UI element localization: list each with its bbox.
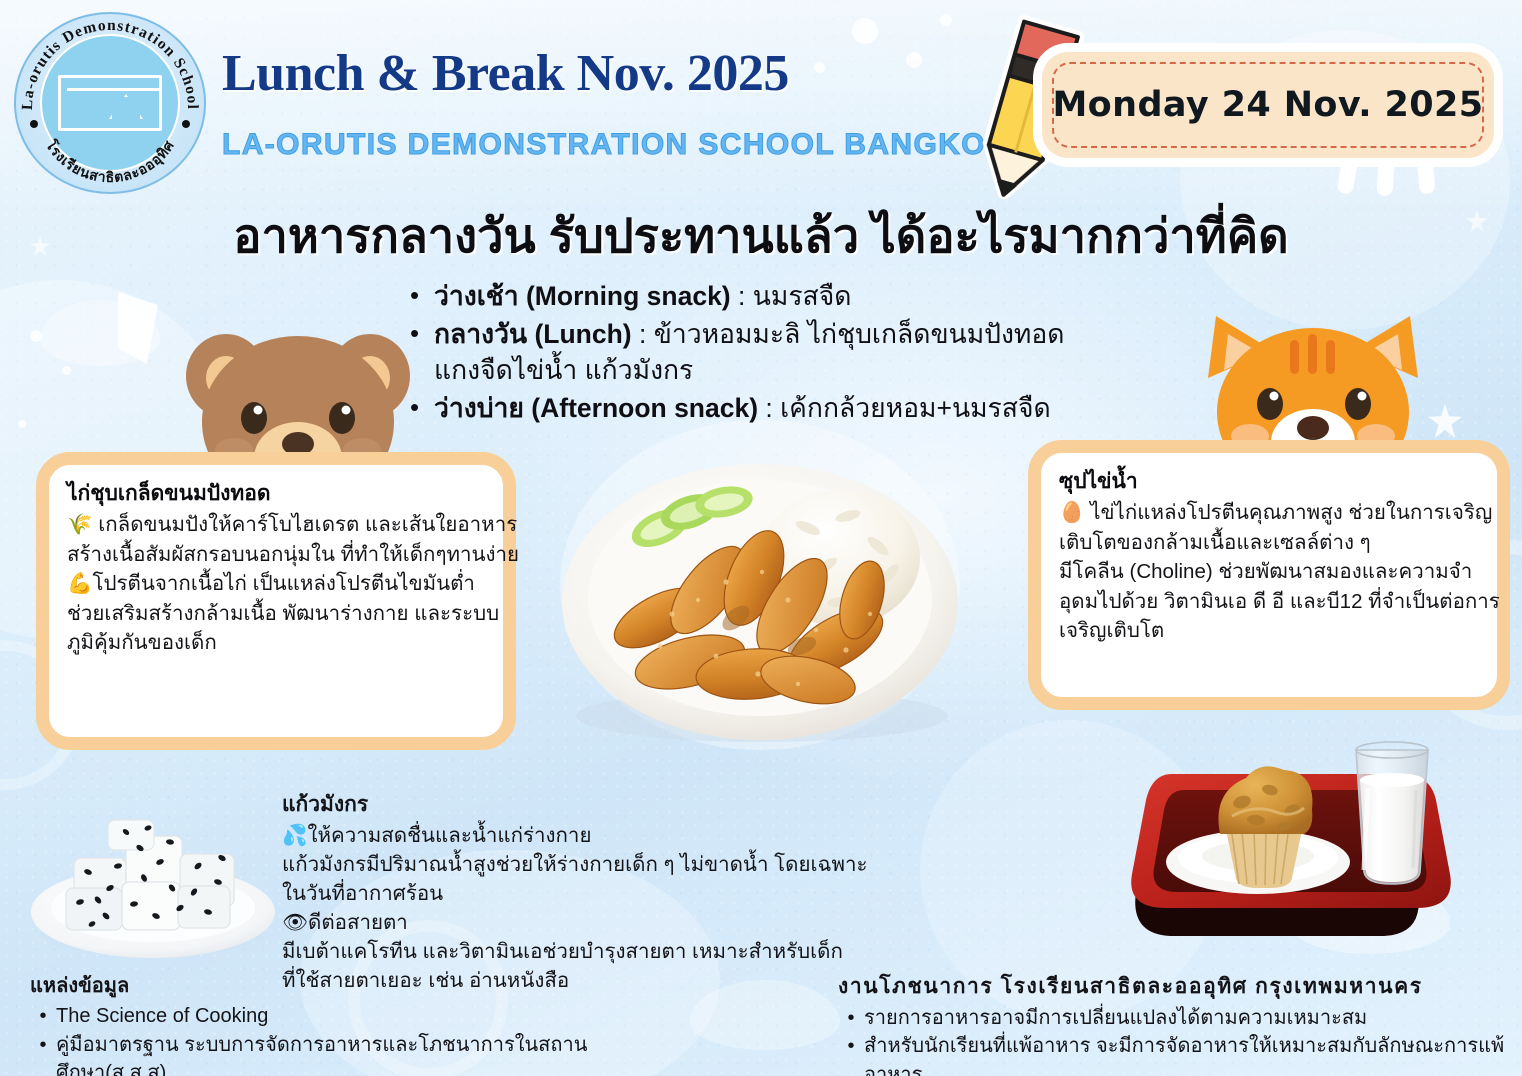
bullet-icon: •: [30, 1031, 56, 1059]
bg-dot-5: [30, 330, 42, 342]
bullet-icon: •: [838, 1032, 864, 1060]
footer-note-text-1: รายการอาหารอาจมีการเปลี่ยนแปลงได้ตามความ…: [864, 1004, 1518, 1032]
info-card-fried-chicken: ไก่ชุบเกล็ดขนมปังทอด 🌾 เกล็ดขนมปังให้คาร…: [36, 452, 516, 750]
dragonfruit-title: แก้วมังกร: [282, 790, 882, 820]
poster-canvas: La-orutis Demonstration School โรงเรียนส…: [0, 0, 1522, 1076]
card-right-line-5: เจริญเติบโต: [1059, 616, 1479, 646]
headline: อาหารกลางวัน รับประทานแล้ว ได้อะไรมากกว่…: [0, 198, 1522, 273]
menu-label-lunch: กลางวัน (Lunch): [434, 319, 632, 349]
menu-value-morning: นมรสจืด: [753, 281, 852, 311]
dragonfruit-line-5: มีเบต้าแคโรทีน และวิตามินเอช่วยบำรุงสายต…: [282, 937, 882, 966]
menu-value-lunch-line2: แกงจืดไข่น้ำ แก้วมังกร: [434, 352, 1130, 388]
footer-note-text-2: สำหรับนักเรียนที่แพ้อาหาร จะมีการจัดอาหา…: [864, 1032, 1518, 1076]
bg-dot-7: [18, 420, 26, 428]
photo-fried-chicken-rice: [540, 450, 980, 750]
footer-notes-heading: งานโภชนาการ โรงเรียนสาธิตละอออุทิศ กรุงเ…: [838, 972, 1518, 1002]
bg-dot-1: [852, 18, 878, 44]
card-left-line-2: สร้างเนื้อสัมผัสกรอบนอกนุ่มใน ที่ทำให้เด…: [67, 540, 485, 570]
card-right-title: ซุปไข่น้ำ: [1059, 467, 1479, 497]
info-card-egg-soup: ซุปไข่น้ำ 🥚 ไข่ไก่แหล่งโปรตีนคุณภาพสูง ช…: [1028, 440, 1510, 710]
footer-source-text-2: คู่มือมาตรฐาน ระบบการจัดการอาหารและโภชนา…: [56, 1031, 690, 1076]
bg-dot-3: [940, 14, 952, 26]
footer-sources-heading: แหล่งข้อมูล: [30, 972, 690, 1000]
photo-snack-tray: [1080, 722, 1500, 952]
menu-sep-lunch: :: [632, 319, 654, 349]
bg-dot-6: [62, 366, 71, 375]
footer-note-item: • สำหรับนักเรียนที่แพ้อาหาร จะมีการจัดอา…: [838, 1032, 1518, 1076]
menu-item-lunch: • กลางวัน (Lunch) : ข้าวหอมมะลิ ไก่ชุบเก…: [410, 316, 1130, 388]
school-logo: La-orutis Demonstration School โรงเรียนส…: [14, 12, 206, 194]
footer-source-item: • คู่มือมาตรฐาน ระบบการจัดการอาหารและโภช…: [30, 1031, 690, 1076]
menu-sep-afternoon: :: [758, 393, 780, 423]
bullet-icon: •: [410, 278, 434, 313]
menu-item-afternoon-snack: • ว่างบ่าย (Afternoon snack) : เค้กกล้วย…: [410, 390, 1130, 426]
card-right-line-2: เติบโตของกล้ามเนื้อและเซลล์ต่าง ๆ: [1059, 528, 1479, 558]
menu-value-lunch: ข้าวหอมมะลิ ไก่ชุบเกล็ดขนมปังทอด: [654, 319, 1065, 349]
menu-list: • ว่างเช้า (Morning snack) : นมรสจืด • ก…: [410, 278, 1130, 428]
menu-value-afternoon: เค้กกล้วยหอม+นมรสจืด: [780, 393, 1051, 423]
dragonfruit-line-1: 💦ให้ความสดชื่นและน้ำแก่ร่างกาย: [282, 821, 882, 850]
card-left-line-5: ภูมิคุ้มกันของเด็ก: [67, 628, 485, 658]
page-subtitle: LA-ORUTIS DEMONSTRATION SCHOOL BANGKOK: [222, 128, 1009, 162]
menu-sep-morning: :: [731, 281, 753, 311]
card-right-line-1: 🥚 ไข่ไก่แหล่งโปรตีนคุณภาพสูง ช่วยในการเจ…: [1059, 498, 1479, 528]
logo-inner-disc: [40, 34, 180, 172]
menu-item-morning-snack: • ว่างเช้า (Morning snack) : นมรสจืด: [410, 278, 1130, 314]
footer-source-item: • The Science of Cooking: [30, 1002, 690, 1030]
footer-notes: งานโภชนาการ โรงเรียนสาธิตละอออุทิศ กรุงเ…: [838, 972, 1518, 1076]
page-title: Lunch & Break Nov. 2025: [222, 44, 789, 103]
footer-source-text-1: The Science of Cooking: [56, 1002, 690, 1030]
menu-label-afternoon: ว่างบ่าย (Afternoon snack): [434, 393, 758, 423]
menu-label-morning: ว่างเช้า (Morning snack): [434, 281, 731, 311]
card-left-line-4: ช่วยเสริมสร้างกล้ามเนื้อ พัฒนาร่างกาย แล…: [67, 599, 485, 629]
dragonfruit-info: แก้วมังกร 💦ให้ความสดชื่นและน้ำแก่ร่างกาย…: [282, 790, 882, 995]
dragonfruit-line-4: 👁ดีต่อสายตา: [282, 908, 882, 937]
card-left-line-1: 🌾 เกล็ดขนมปังให้คาร์โบไฮเดรต และเส้นใยอา…: [67, 510, 485, 540]
bullet-icon: •: [30, 1002, 56, 1030]
dragonfruit-line-2: แก้วมังกรมีปริมาณน้ำสูงช่วยให้ร่างกายเด็…: [282, 850, 882, 879]
bg-dot-2: [906, 52, 922, 68]
school-building-icon: [58, 75, 162, 131]
footer-note-item: • รายการอาหารอาจมีการเปลี่ยนแปลงได้ตามคว…: [838, 1004, 1518, 1032]
bg-dot-4: [814, 62, 825, 73]
bullet-icon: •: [838, 1004, 864, 1032]
card-left-title: ไก่ชุบเกล็ดขนมปังทอด: [67, 479, 485, 509]
photo-dragon-fruit: [22, 792, 284, 972]
date-text: Monday 24 Nov. 2025: [1042, 85, 1494, 125]
card-left-line-3: 💪โปรตีนจากเนื้อไก่ เป็นแหล่งโปรตีนไขมันต…: [67, 569, 485, 599]
dragonfruit-line-3: ในวันที่อากาศร้อน: [282, 879, 882, 908]
card-right-line-3: มีโคลีน (Choline) ช่วยพัฒนาสมองและความจำ: [1059, 557, 1479, 587]
date-badge: Monday 24 Nov. 2025: [1042, 52, 1494, 158]
footer-sources: แหล่งข้อมูล • The Science of Cooking • ค…: [30, 972, 690, 1076]
card-right-line-4: อุดมไปด้วย วิตามินเอ ดี อี และบี12 ที่จำ…: [1059, 587, 1479, 617]
